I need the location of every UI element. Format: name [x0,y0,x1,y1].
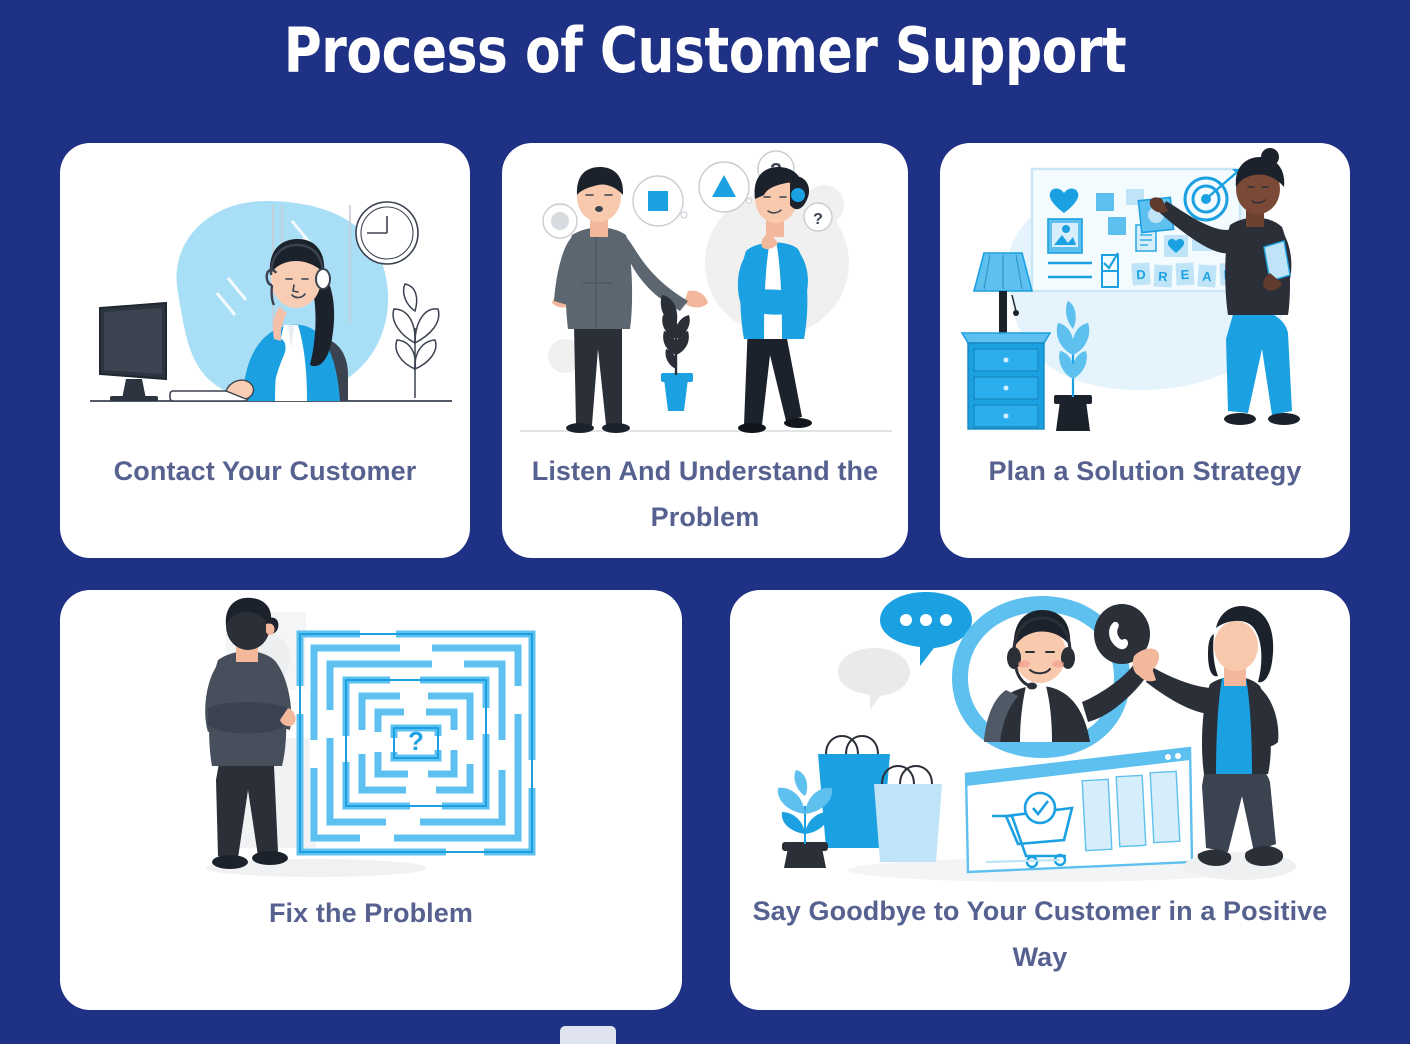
bottom-partial-element [560,1026,616,1044]
potted-plant [661,295,693,411]
svg-text:E: E [1180,267,1190,282]
svg-text:?: ? [813,211,823,228]
svg-text:R: R [1158,269,1169,285]
process-step-label-4: Fix the Problem [60,890,682,936]
wall-clock [356,202,418,264]
process-step-card-1[interactable]: Contact Your Customer [60,143,470,558]
support-farewell-illustration [730,590,1350,890]
process-step-label-2: Listen And Understand the Problem [502,448,908,541]
dream-letters: D R E A M [1131,262,1238,287]
ecommerce-screen [966,748,1192,872]
dresser [962,333,1050,429]
shopping-bags [818,736,942,862]
process-step-card-4[interactable]: ? [60,590,682,1010]
triangle-icon-bubble [699,162,749,212]
office-plant [393,284,439,398]
process-step-label-1: Contact Your Customer [60,448,470,494]
question-mark-center: ? [408,726,424,756]
svg-text:A: A [1202,269,1213,285]
infographic-page: Process of Customer Support [0,0,1410,1034]
call-center-agent-illustration [60,143,470,443]
square-icon-bubble [633,176,683,226]
process-step-card-5[interactable]: Say Goodbye to Your Customer in a Positi… [730,590,1350,1010]
process-step-label-5: Say Goodbye to Your Customer in a Positi… [730,888,1350,981]
process-step-card-2[interactable]: ? ? [502,143,908,558]
heart-note [1164,235,1188,257]
process-step-label-3: Plan a Solution Strategy [940,448,1350,494]
man-facing-maze-illustration: ? [60,590,682,890]
two-people-discussion-illustration: ? ? [502,143,908,443]
page-header: Process of Customer Support [0,18,1410,83]
desktop-monitor [100,303,166,401]
globe-icon-bubble [543,204,577,238]
question-mark-bubble-small: ? [804,203,832,231]
page-title: Process of Customer Support [49,18,1360,83]
process-step-card-3[interactable]: D R E A M [940,143,1350,558]
photo-card [1048,219,1082,253]
svg-text:D: D [1136,267,1146,283]
vision-board-planning-illustration: D R E A M [940,143,1350,443]
